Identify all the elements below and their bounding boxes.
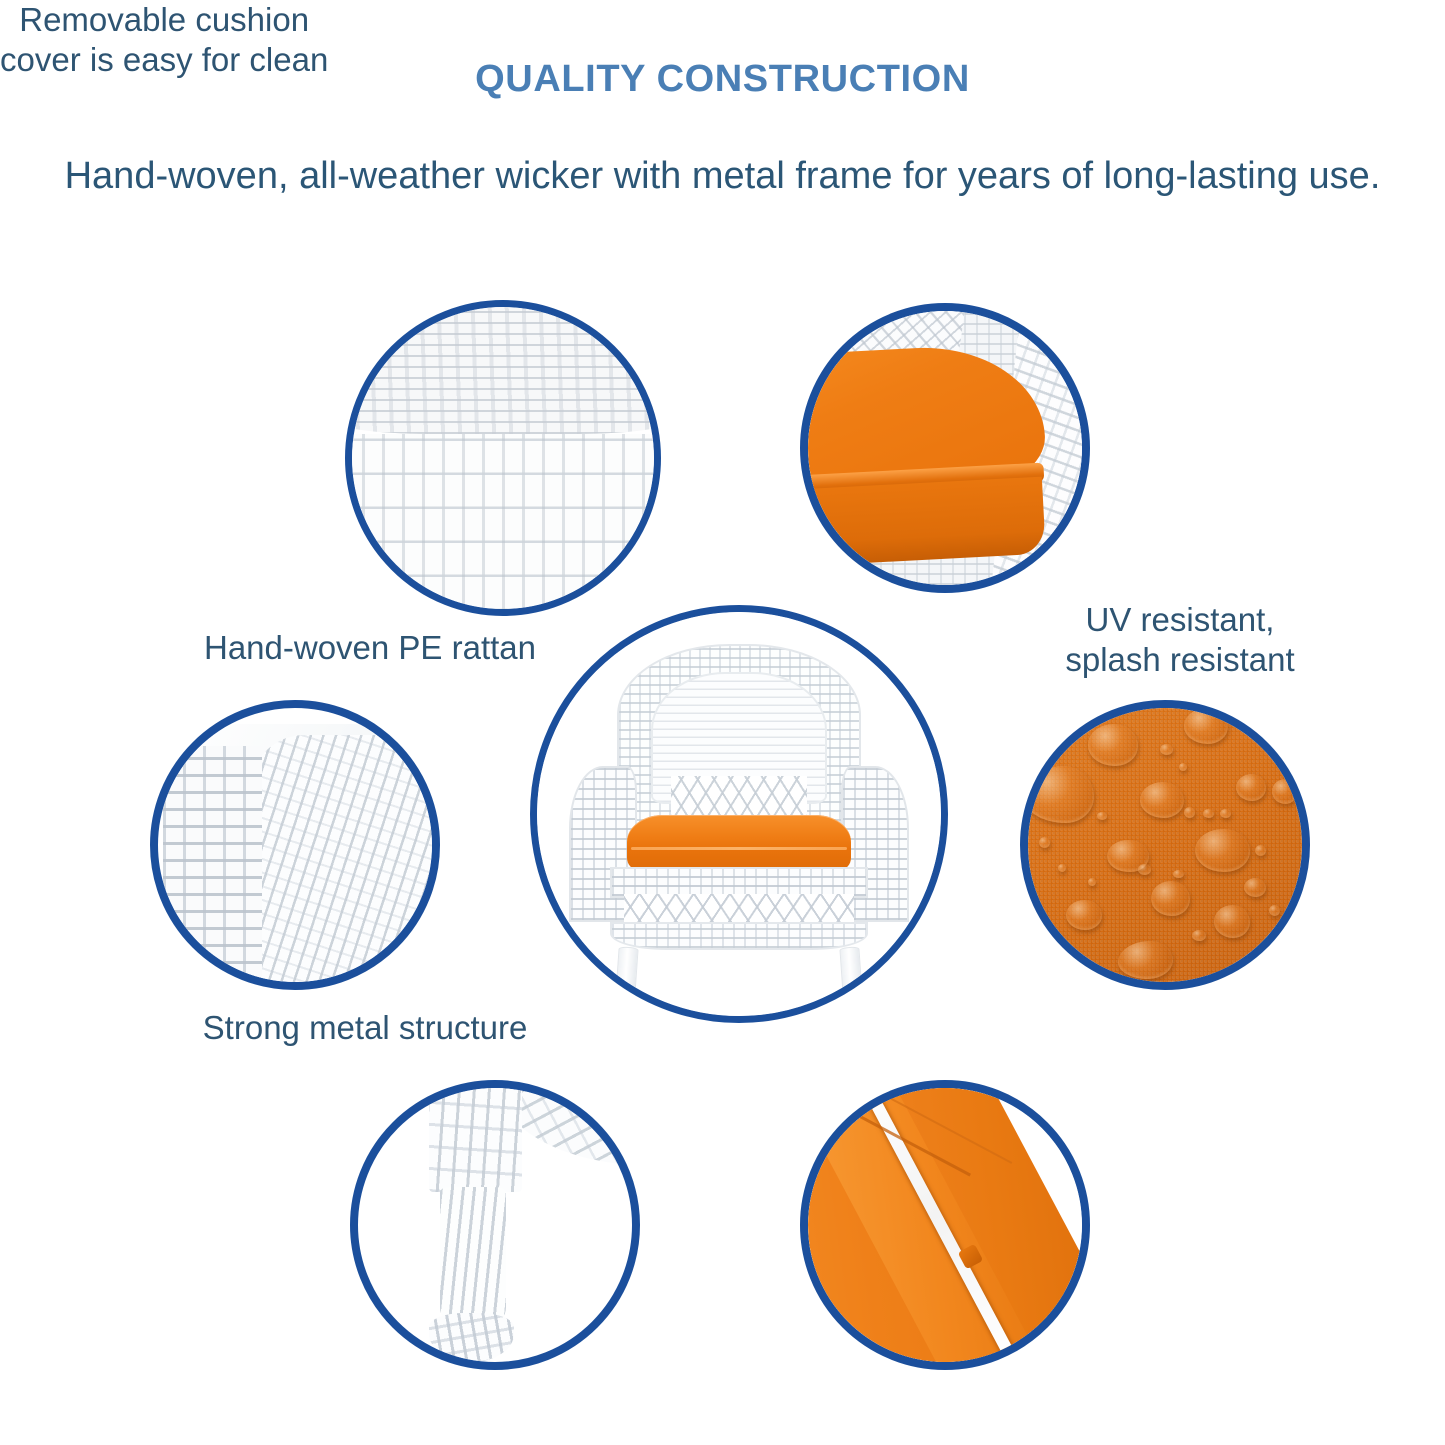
water-droplet-small [1184,807,1195,818]
water-droplet-small [1160,744,1174,755]
water-droplet-small [1173,870,1184,878]
water-droplet [1195,829,1250,873]
water-droplet [1028,766,1094,824]
chair-lower-apron [610,922,868,950]
callout-circle-cushion [800,303,1090,593]
water-droplet-small [1179,763,1187,771]
water-droplet-small [1039,837,1050,848]
water-droplet [1272,779,1297,804]
callout-circle-leg [350,1080,640,1370]
water-droplet [1088,724,1137,765]
armrest-inner-face [163,746,262,982]
water-droplet [1244,878,1266,897]
chair-leg-foot [429,1313,514,1362]
chair-apron-lattice [624,894,855,925]
water-droplet [1214,905,1250,938]
rattan-weave-upper [352,307,654,434]
chair-foot-left [613,988,640,1005]
callout-circle-armrest [150,700,440,990]
callout-circle-droplets [1020,700,1310,990]
water-droplet-small [1255,845,1266,856]
callout-circle-rattan [345,300,661,616]
water-droplet [1140,782,1184,818]
wicker-chair-leg-image [358,1088,632,1362]
caption-strong-metal-structure: Strong metal structure [115,1008,615,1048]
chair-back-lattice [671,776,807,818]
callout-circle-zipper [800,1080,1090,1370]
page-subtitle: Hand-woven, all-weather wicker with meta… [0,155,1445,198]
water-droplet-small [1220,809,1231,817]
cushion-cover-zipper-image [808,1088,1082,1362]
white-wicker-armchair-image [537,612,941,1016]
water-droplets-on-orange-fabric-image [1028,708,1302,982]
water-droplet-small [1058,864,1066,872]
chair-seat-frame [610,867,868,898]
rattan-weave-lower [352,434,654,609]
water-droplet-small [1203,809,1214,817]
water-droplet-small [1192,930,1206,941]
water-droplet-small [1088,878,1096,886]
chair-foot-right [837,988,864,1005]
wicker-armchair [569,644,908,991]
chair-leg-upper [429,1088,522,1192]
caption-hand-woven-pe-rattan: Hand-woven PE rattan [120,628,620,668]
water-droplet-small [1097,812,1108,820]
water-droplet [1151,881,1189,917]
chair-leg-shaft [440,1187,506,1324]
water-droplet [1184,708,1228,744]
cushion-side-face [808,476,1045,568]
wicker-armrest-image [158,708,432,982]
woven-pe-rattan-image [352,307,654,609]
orange-seat-cushion-image [808,311,1082,585]
water-droplet [1118,941,1173,979]
callout-circle-chair [530,605,948,1023]
caption-removable-cushion-cover: Removable cushion cover is easy for clea… [0,0,328,81]
water-droplet-small [1138,864,1152,875]
water-droplet [1066,900,1102,930]
water-droplet-small [1269,905,1280,916]
caption-uv-splash-resistant: UV resistant, splash resistant [1000,600,1360,681]
chair-orange-cushion [627,815,851,871]
armrest-outer-face [251,735,432,982]
water-droplet [1236,774,1266,801]
